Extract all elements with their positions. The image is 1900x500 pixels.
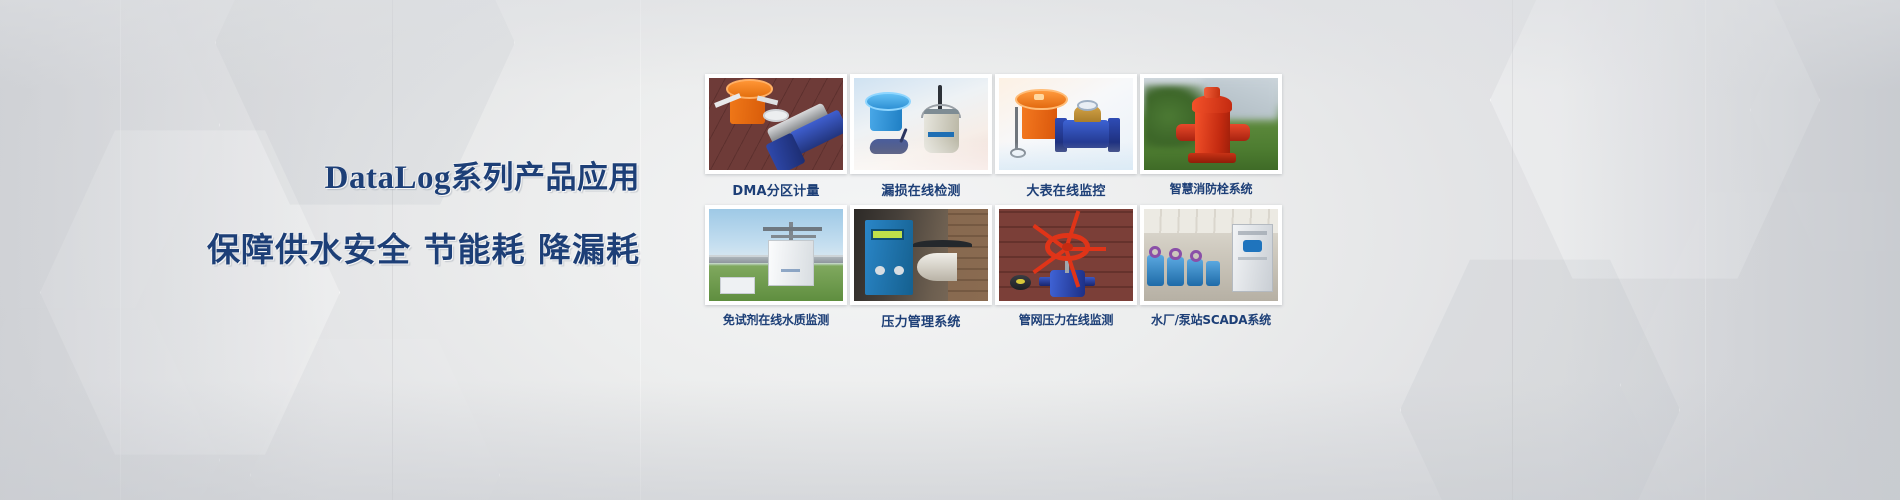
product-caption: 智慧消防栓系统 — [1140, 180, 1282, 197]
pressure-control-panel-icon — [854, 209, 988, 301]
product-caption: DMA分区计量 — [705, 180, 847, 199]
banner-headline: DataLog系列产品应用 保障供水安全 节能耗 降漏耗 — [0, 152, 700, 271]
product-caption: 漏损在线检测 — [850, 180, 992, 199]
bottom-vignette — [0, 380, 1900, 500]
leak-logger-sensor-icon — [854, 78, 988, 170]
product-caption: 水厂/泵站SCADA系统 — [1140, 311, 1282, 328]
product-card-smart-hydrant[interactable]: 智慧消防栓系统 — [1140, 74, 1282, 199]
fire-hydrant-icon — [1144, 78, 1278, 170]
product-thumbnail[interactable] — [850, 205, 992, 305]
large-water-meter-icon — [999, 78, 1133, 170]
product-thumbnail[interactable] — [705, 74, 847, 174]
headline-line-1-cn: 系列产品应用 — [451, 160, 640, 196]
product-card-dma[interactable]: DMA分区计量 — [705, 74, 847, 199]
product-card-water-quality[interactable]: 免试剂在线水质监测 — [705, 205, 847, 330]
water-quality-station-icon — [709, 209, 843, 301]
product-grid: DMA分区计量 漏损在线检测 大表在线监控 — [705, 74, 1282, 330]
product-thumbnail[interactable] — [850, 74, 992, 174]
product-thumbnail[interactable] — [1140, 74, 1282, 174]
product-thumbnail[interactable] — [995, 205, 1137, 305]
product-thumbnail[interactable] — [1140, 205, 1282, 305]
headline-line-2: 保障供水安全 节能耗 降漏耗 — [0, 223, 640, 271]
product-card-large-meter[interactable]: 大表在线监控 — [995, 74, 1137, 199]
headline-line-1: DataLog系列产品应用 — [0, 152, 640, 197]
promo-banner: DataLog系列产品应用 保障供水安全 节能耗 降漏耗 DMA分区计量 — [0, 0, 1900, 500]
product-thumbnail[interactable] — [705, 205, 847, 305]
product-thumbnail[interactable] — [995, 74, 1137, 174]
product-caption: 免试剂在线水质监测 — [705, 311, 847, 328]
product-caption: 大表在线监控 — [995, 180, 1137, 199]
pump-station-scada-icon — [1144, 209, 1278, 301]
product-card-scada[interactable]: 水厂/泵站SCADA系统 — [1140, 205, 1282, 330]
pipeline-valve-wheel-icon — [999, 209, 1133, 301]
headline-brand: DataLog — [325, 160, 451, 196]
product-card-pipeline-pressure[interactable]: 管网压力在线监测 — [995, 205, 1137, 330]
product-card-pressure-management[interactable]: 压力管理系统 — [850, 205, 992, 330]
product-caption: 管网压力在线监测 — [995, 311, 1137, 328]
product-caption: 压力管理系统 — [850, 311, 992, 330]
water-chamber-valve-icon — [709, 78, 843, 170]
product-card-leak-detection[interactable]: 漏损在线检测 — [850, 74, 992, 199]
